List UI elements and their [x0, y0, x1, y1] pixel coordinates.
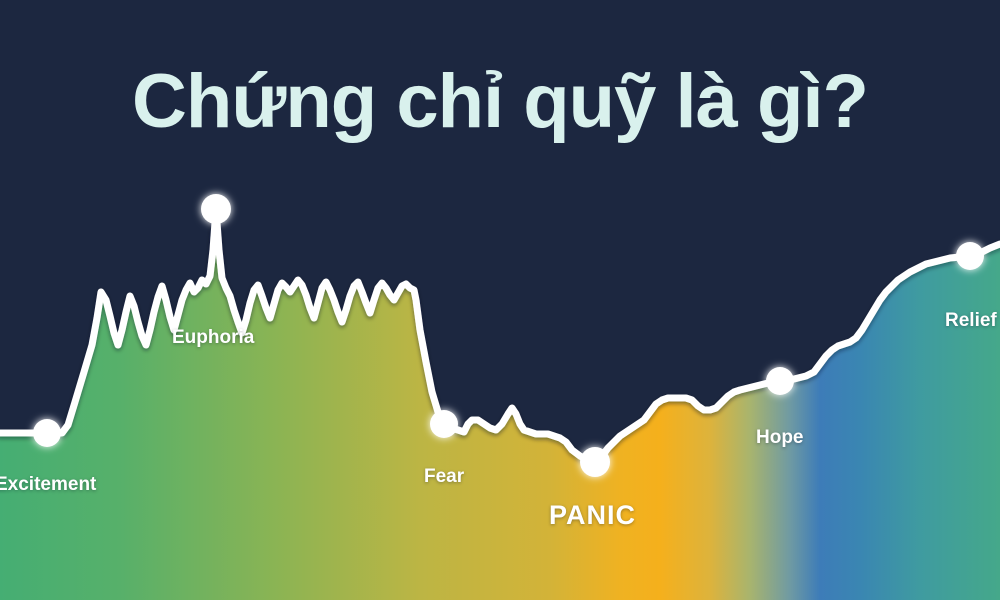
label-relief: Relief: [945, 310, 997, 332]
label-panic: PANIC: [549, 500, 636, 531]
euphoria-marker: [201, 194, 231, 224]
hope-marker: [766, 367, 794, 395]
label-excitement: Excitement: [0, 474, 96, 496]
chart-area-fill: [0, 209, 1000, 600]
label-hope: Hope: [756, 427, 804, 449]
fear-marker: [430, 410, 458, 438]
label-euphoria: Euphoria: [172, 327, 254, 349]
infographic-canvas: Chứng chỉ quỹ là gì? Excitement Euphoria…: [0, 0, 1000, 600]
page-title: Chứng chỉ quỹ là gì?: [0, 62, 1000, 142]
label-fear: Fear: [424, 466, 464, 488]
relief-marker: [956, 242, 984, 270]
panic-marker: [580, 447, 610, 477]
excitement-marker: [33, 419, 61, 447]
